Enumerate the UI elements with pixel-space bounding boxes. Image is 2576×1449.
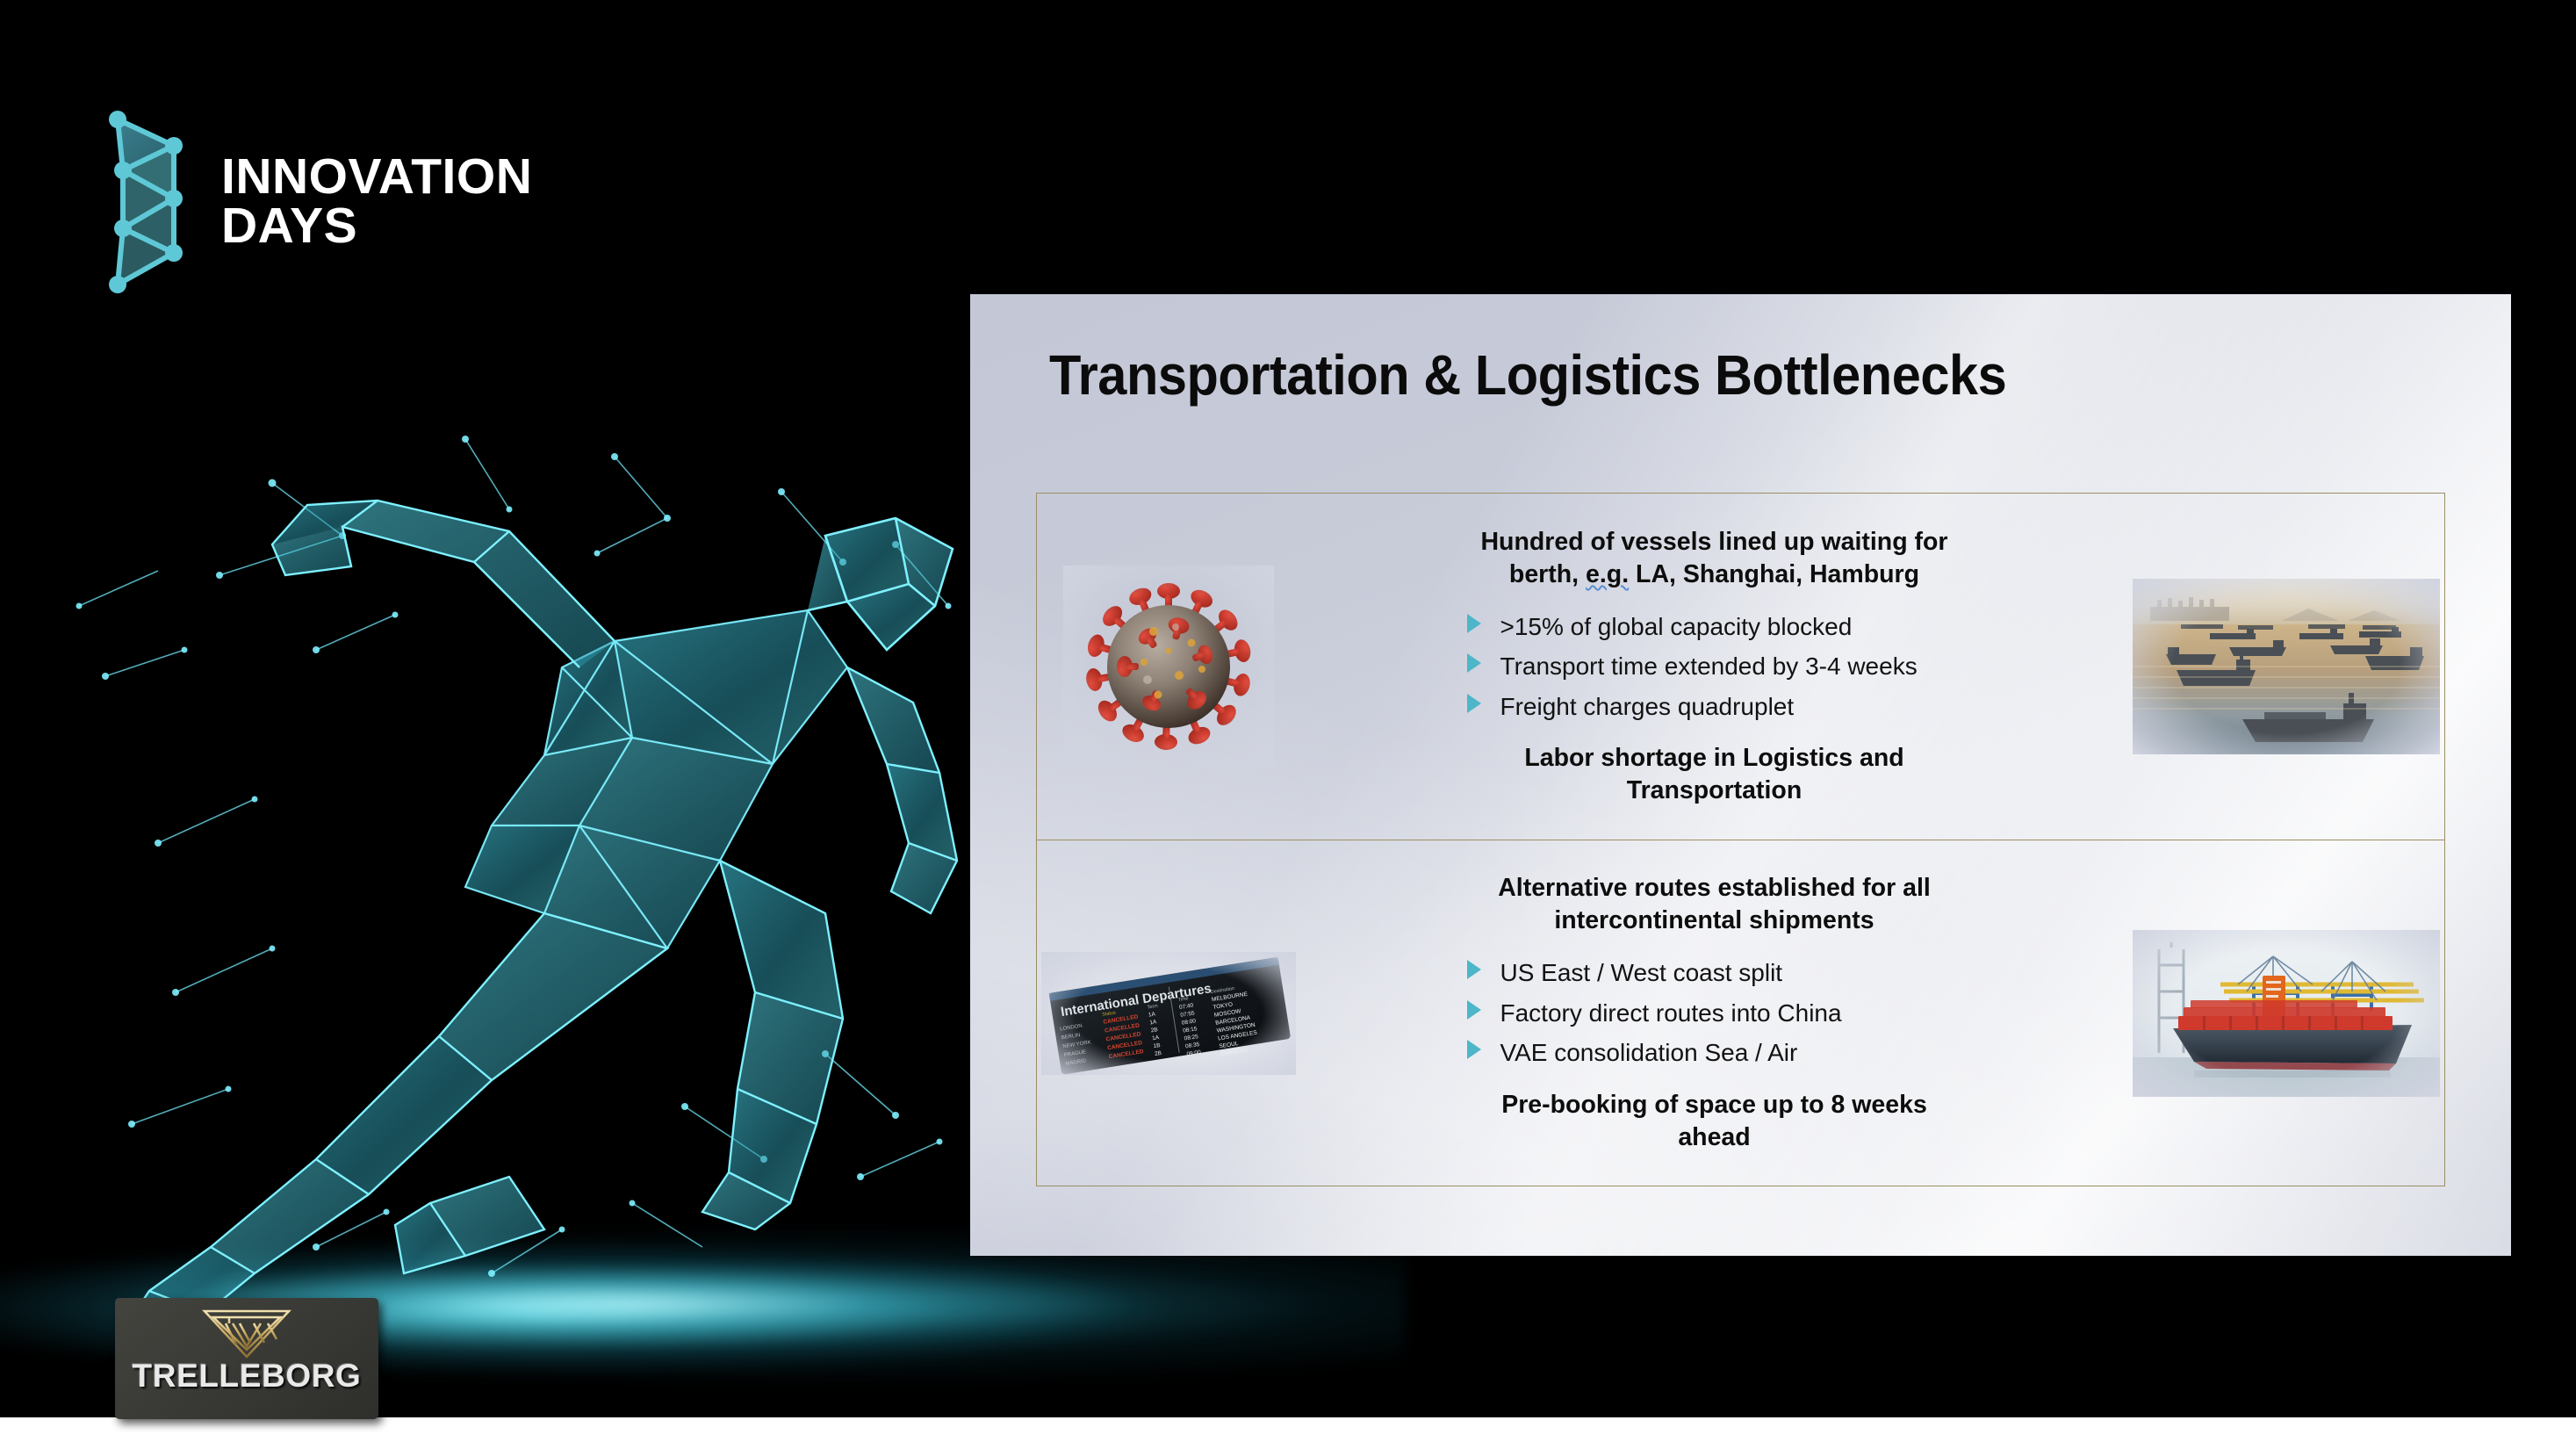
triangle-bullet-icon xyxy=(1467,614,1481,633)
bullet-text: >15% of global capacity blocked xyxy=(1500,607,1853,646)
panel-footline: Pre-booking of space up to 8 weeks ahead xyxy=(1469,1089,1961,1154)
triangle-bullet-icon xyxy=(1467,1000,1481,1020)
slide-bottom-band xyxy=(0,1417,2576,1449)
list-item: Factory direct routes into China xyxy=(1467,993,1969,1033)
list-item: VAE consolidation Sea / Air xyxy=(1467,1033,1969,1072)
panel-alternative-routes: International Departures LONDONBERLIN NE… xyxy=(1036,840,2445,1186)
content-card: Transportation & Logistics Bottlenecks xyxy=(970,294,2511,1256)
panel-right-image-slot xyxy=(2128,494,2444,840)
triangle-bullet-icon xyxy=(1467,653,1481,673)
slide-top-band xyxy=(0,0,2576,16)
innovation-days-mark-icon xyxy=(105,107,190,297)
triangle-bullet-icon xyxy=(1467,694,1481,713)
triangle-bullet-icon xyxy=(1467,960,1481,979)
panel-bullet-list: >15% of global capacity blocked Transpor… xyxy=(1460,607,1969,726)
list-item: Freight charges quadruplet xyxy=(1467,687,1969,726)
bullet-text: Freight charges quadruplet xyxy=(1500,687,1795,726)
logo-line-1: INNOVATION xyxy=(221,153,532,202)
panel-bullet-list: US East / West coast split Factory direc… xyxy=(1460,953,1969,1072)
departures-board-photo: International Departures LONDONBERLIN NE… xyxy=(1041,952,1296,1075)
coronavirus-particle-image xyxy=(1063,566,1274,768)
svg-text:2B: 2B xyxy=(1155,1049,1162,1056)
list-item: US East / West coast split xyxy=(1467,953,1969,992)
anchored-vessels-photo xyxy=(2133,579,2440,754)
panel-headline: Alternative routes established for all i… xyxy=(1460,872,1969,937)
bullet-text: US East / West coast split xyxy=(1500,953,1783,992)
headline-misspelled-word: e.g. xyxy=(1586,560,1629,588)
bullet-text: VAE consolidation Sea / Air xyxy=(1500,1033,1798,1072)
trelleborg-wordmark: TRELLEBORG xyxy=(133,1358,362,1395)
panel-vessel-backlog: Hundred of vessels lined up waiting for … xyxy=(1036,493,2445,840)
panel-footline: Labor shortage in Logistics and Transpor… xyxy=(1469,742,1961,807)
panel-left-image-slot xyxy=(1037,494,1300,840)
page-title: Transportation & Logistics Bottlenecks xyxy=(1049,342,2376,407)
presentation-slide: INNOVATION DAYS xyxy=(0,0,2576,1449)
panels-container: Hundred of vessels lined up waiting for … xyxy=(1036,493,2445,1186)
trelleborg-logo-plate: TRELLEBORG xyxy=(115,1298,378,1419)
innovation-days-wordmark: INNOVATION DAYS xyxy=(221,153,532,251)
container-ship-berth-photo xyxy=(2133,930,2440,1097)
svg-text:2B: 2B xyxy=(1150,1027,1158,1034)
bullet-text: Transport time extended by 3-4 weeks xyxy=(1500,646,1918,686)
innovation-days-logo: INNOVATION DAYS xyxy=(105,107,532,297)
logo-line-2: DAYS xyxy=(221,202,532,251)
headline-part-2: LA, Shanghai, Hamburg xyxy=(1629,560,1919,588)
bullet-text: Factory direct routes into China xyxy=(1500,993,1842,1033)
panel-text-body: Alternative routes established for all i… xyxy=(1300,872,2128,1153)
triangle-bullet-icon xyxy=(1467,1040,1481,1059)
svg-text:1B: 1B xyxy=(1153,1042,1161,1049)
low-poly-runner-graphic xyxy=(53,386,983,1326)
list-item: >15% of global capacity blocked xyxy=(1467,607,1969,646)
svg-text:09:00: 09:00 xyxy=(1186,1049,1202,1057)
panel-right-image-slot xyxy=(2128,840,2444,1186)
list-item: Transport time extended by 3-4 weeks xyxy=(1467,646,1969,686)
panel-left-image-slot: International Departures LONDONBERLIN NE… xyxy=(1037,840,1300,1186)
panel-text-body: Hundred of vessels lined up waiting for … xyxy=(1300,526,2128,807)
trelleborg-tw-mark-icon xyxy=(199,1306,294,1359)
panel-headline: Hundred of vessels lined up waiting for … xyxy=(1460,526,1969,591)
